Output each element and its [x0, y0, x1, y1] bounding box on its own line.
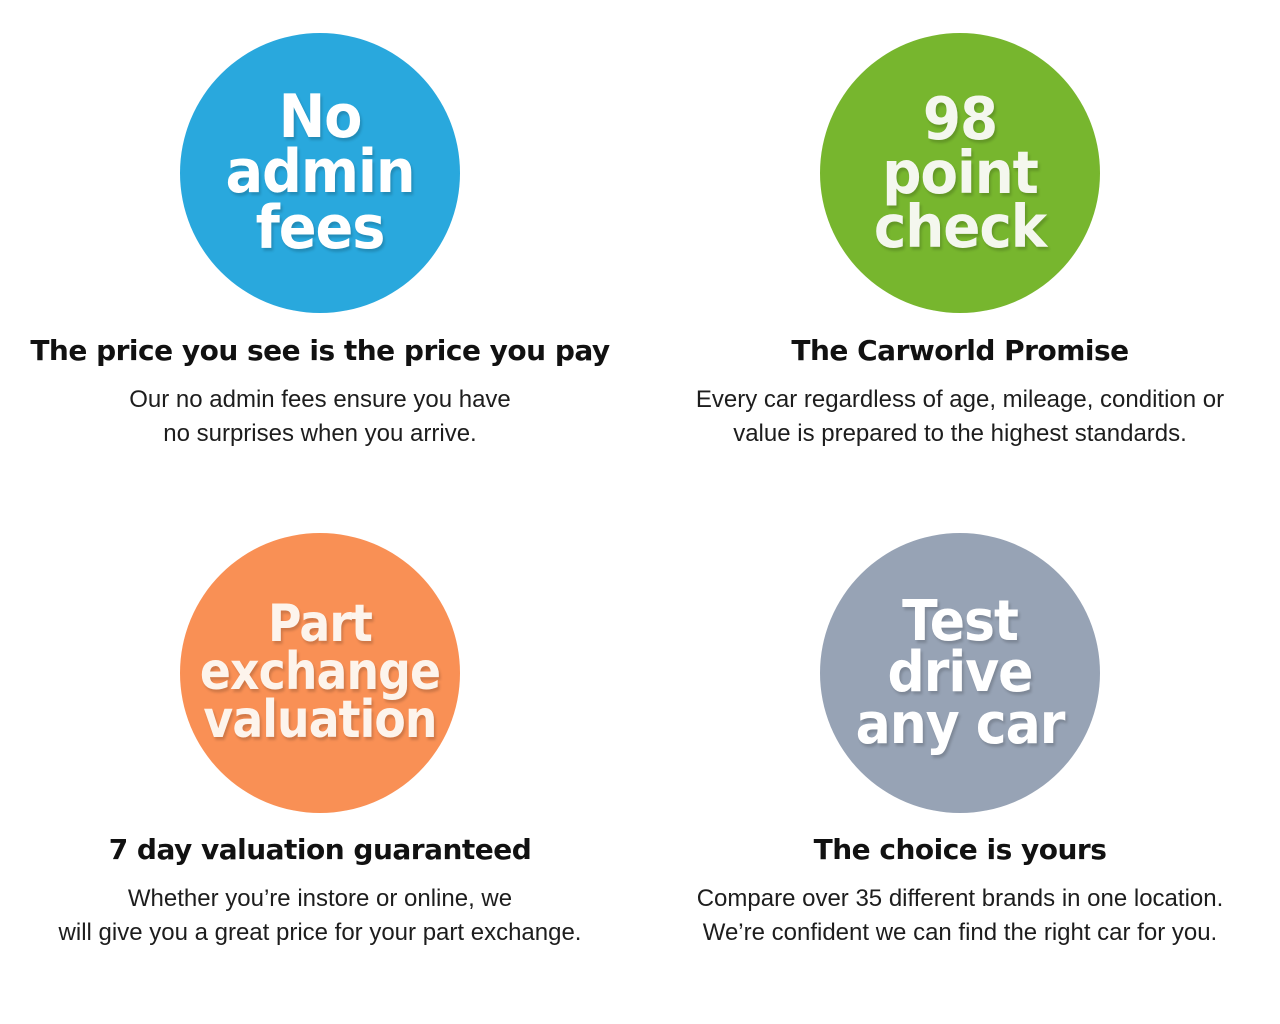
feature-body-line: We’re confident we can find the right ca…	[697, 916, 1224, 950]
feature-heading: The choice is yours	[814, 835, 1107, 866]
badge-text-test-drive-any-car: Test drive any car	[820, 596, 1100, 751]
feature-heading: The price you see is the price you pay	[30, 336, 609, 367]
badge-line: fees	[192, 201, 449, 256]
feature-body-line: Whether you’re instore or online, we	[59, 882, 582, 916]
badge-text-part-exchange-valuation: Part exchange valuation	[180, 601, 460, 744]
badge-text-no-admin-fees: No admin fees	[180, 90, 460, 256]
circle-badge-blue-icon: No admin fees	[180, 33, 460, 313]
features-grid: No admin fees The price you see is the p…	[0, 0, 1280, 1024]
feature-card-test-drive-any-car: Test drive any car The choice is yours C…	[640, 512, 1280, 1024]
feature-body-line: will give you a great price for your par…	[59, 916, 582, 950]
feature-body-line: no surprises when you arrive.	[129, 417, 511, 451]
badge-text-98-point-check: 98 point check	[820, 92, 1100, 255]
feature-card-part-exchange-valuation: Part exchange valuation 7 day valuation …	[0, 512, 640, 1024]
badge-line: check	[832, 200, 1089, 254]
feature-body: Compare over 35 different brands in one …	[697, 882, 1224, 950]
badge-line: valuation	[199, 697, 442, 745]
feature-body-line: Our no admin fees ensure you have	[129, 383, 511, 417]
feature-body: Our no admin fees ensure you have no sur…	[129, 383, 511, 451]
feature-body: Every car regardless of age, mileage, co…	[696, 383, 1224, 451]
feature-card-no-admin-fees: No admin fees The price you see is the p…	[0, 0, 640, 512]
feature-card-98-point-check: 98 point check The Carworld Promise Ever…	[640, 0, 1280, 512]
feature-body-line: Every car regardless of age, mileage, co…	[696, 383, 1224, 417]
circle-badge-grey-icon: Test drive any car	[820, 533, 1100, 813]
feature-body-line: value is prepared to the highest standar…	[696, 417, 1224, 451]
circle-badge-orange-icon: Part exchange valuation	[180, 533, 460, 813]
badge-line: any car	[832, 699, 1089, 751]
feature-body: Whether you’re instore or online, we wil…	[59, 882, 582, 950]
feature-body-line: Compare over 35 different brands in one …	[697, 882, 1224, 916]
feature-heading: 7 day valuation guaranteed	[109, 835, 532, 866]
feature-heading: The Carworld Promise	[791, 336, 1128, 367]
circle-badge-green-icon: 98 point check	[820, 33, 1100, 313]
